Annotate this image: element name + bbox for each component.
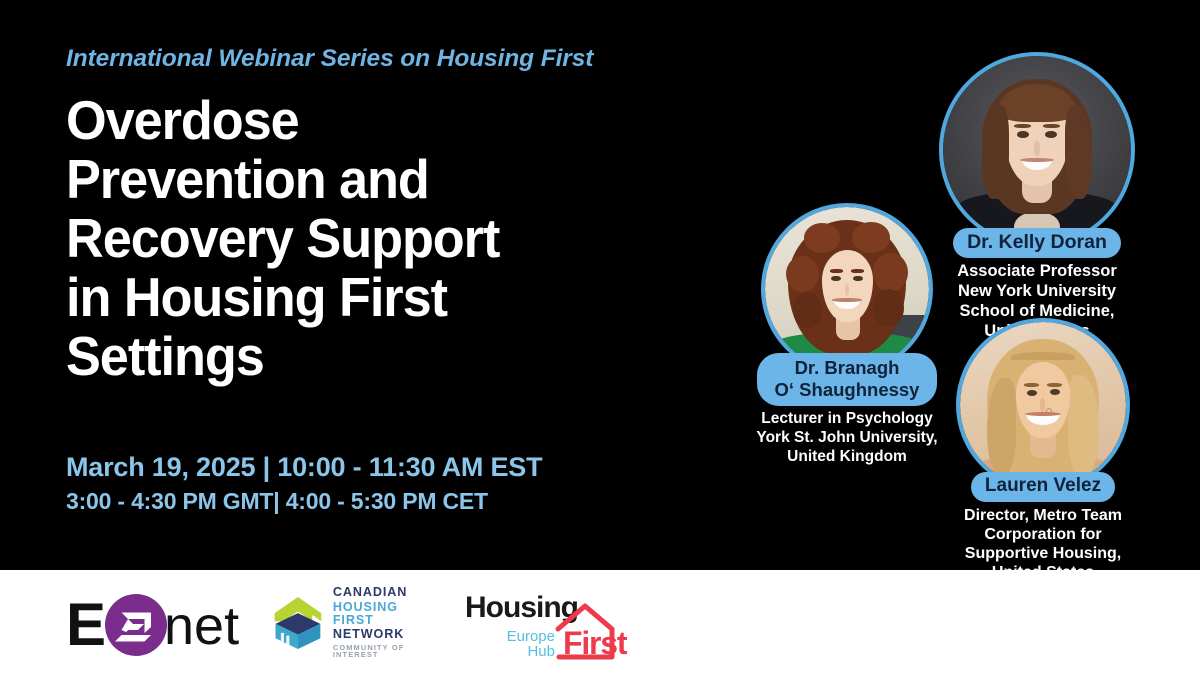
title-line-2: Prevention and	[66, 150, 684, 209]
chfn-line-network: NETWORK	[333, 628, 441, 641]
affiliation-line: Supportive Housing,	[943, 544, 1143, 563]
speaker-name-badge-wrapper-2: Dr. Branagh O‘ Shaughnessy	[742, 353, 952, 406]
title-line-4: in Housing First	[66, 268, 684, 327]
chfn-line-canadian: CANADIAN	[333, 586, 441, 599]
chfn-line-community-of-interest: COMMUNITY OF INTEREST	[333, 644, 441, 659]
badge-line: Dr. Branagh	[775, 357, 920, 379]
avatar-lauren-velez	[956, 318, 1130, 492]
title-line-3: Recovery Support	[66, 209, 684, 268]
avatar-branagh-oshaughnessy	[761, 203, 933, 375]
speaker-card-branagh-oshaughnessy: Dr. Branagh O‘ Shaughnessy Lecturer in P…	[742, 203, 952, 466]
affiliation-line: Lecturer in Psychology	[742, 410, 952, 429]
hf-word-hub: Hub	[471, 644, 555, 660]
schedule-primary-line: March 19, 2025 | 10:00 - 11:30 AM EST	[66, 452, 542, 484]
speaker-name-badge-lauren-velez: Lauren Velez	[971, 472, 1115, 502]
speaker-name-badge-wrapper-1: Dr. Kelly Doran	[937, 228, 1137, 258]
schedule-secondary-line: 3:00 - 4:30 PM GMT| 4:00 - 5:30 PM CET	[66, 487, 542, 516]
avatar-kelly-doran	[939, 52, 1135, 248]
webinar-poster: International Webinar Series on Housing …	[0, 0, 1200, 675]
speaker-card-kelly-doran: Dr. Kelly Doran Associate Professor New …	[937, 52, 1137, 342]
affiliation-line: Associate Professor	[937, 262, 1137, 282]
affiliation-line: United Kingdom	[742, 448, 952, 467]
title-line-1: Overdose	[66, 91, 684, 150]
left-content-column: International Webinar Series on Housing …	[66, 46, 716, 387]
affiliation-line: New York University	[937, 282, 1137, 302]
speaker-name-badge-kelly-doran: Dr. Kelly Doran	[953, 228, 1121, 258]
affiliation-line: Director, Metro Team	[943, 506, 1143, 525]
affiliation-line: Corporation for	[943, 525, 1143, 544]
schedule-block: March 19, 2025 | 10:00 - 11:30 AM EST 3:…	[66, 452, 542, 516]
hf-word-first: First	[563, 625, 626, 662]
badge-line: O‘ Shaughnessy	[775, 379, 920, 401]
footer-logo-bar: E net E 2 net	[0, 570, 1200, 675]
svg-text:net: net	[164, 596, 239, 656]
title-line-5: Settings	[66, 327, 684, 386]
e2net-logo-icon: E net	[64, 587, 249, 659]
chfn-house-hexagon-icon	[271, 590, 325, 656]
speaker-name-badge-branagh-oshaughnessy: Dr. Branagh O‘ Shaughnessy	[757, 353, 938, 406]
speaker-affiliation-branagh-oshaughnessy: Lecturer in Psychology York St. John Uni…	[742, 410, 952, 466]
svg-text:E: E	[66, 591, 106, 658]
hf-word-europe: Europe	[471, 629, 555, 645]
page-title: Overdose Prevention and Recovery Support…	[66, 91, 684, 387]
chfn-wordmark: CANADIAN HOUSING FIRST NETWORK COMMUNITY…	[333, 586, 441, 658]
logo-row: E net E 2 net	[64, 585, 654, 661]
webinar-series-label: International Webinar Series on Housing …	[66, 46, 716, 73]
logo-e2net: E net E 2 net	[64, 587, 249, 659]
speaker-card-lauren-velez: Lauren Velez Director, Metro Team Corpor…	[943, 318, 1143, 583]
affiliation-line: York St. John University,	[742, 429, 952, 448]
chfn-line-housing-first: HOUSING FIRST	[333, 601, 441, 626]
hf-word-europe-hub: Europe Hub	[471, 629, 555, 661]
logo-canadian-housing-first-network: CANADIAN HOUSING FIRST NETWORK COMMUNITY…	[271, 587, 441, 659]
logo-housing-first-europe-hub: Housing Europe Hub First	[459, 585, 654, 661]
